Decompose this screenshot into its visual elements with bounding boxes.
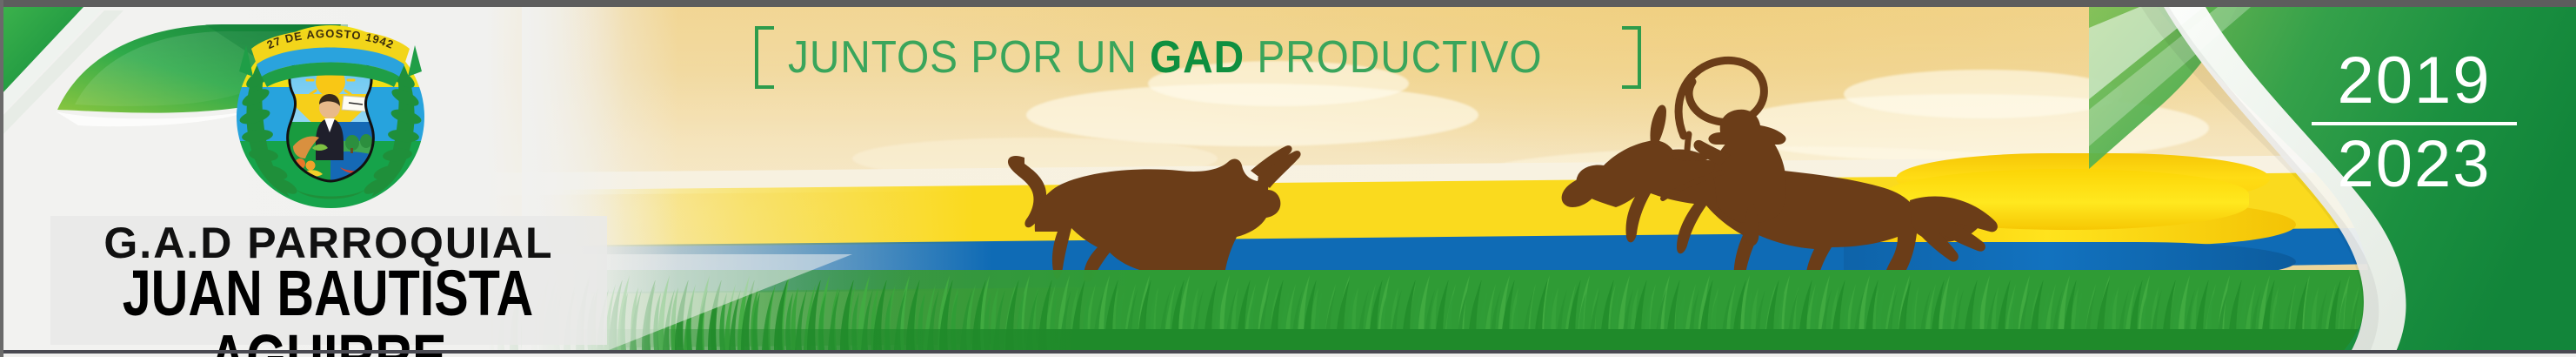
tagline-block: JUNTOS POR UN GAD PRODUCTIVO	[755, 21, 1641, 94]
tagline-highlight: GAD	[1150, 32, 1245, 83]
tagline-prefix: JUNTOS POR UN	[788, 32, 1150, 83]
bracket-right-icon	[1622, 26, 1641, 89]
tagline-text: JUNTOS POR UN GAD PRODUCTIVO	[788, 31, 1542, 84]
coat-of-arms-crest-icon: 27 DE AGOSTO 1942	[213, 10, 448, 211]
window-top-edge	[0, 0, 2576, 7]
institutional-banner: 27 DE AGOSTO 1942 G.A.D PARROQUIAL JUAN …	[0, 0, 2576, 357]
organization-name-line2: JUAN BAUTISTA AGUIRRE	[102, 261, 554, 357]
tagline-suffix: PRODUCTIVO	[1245, 32, 1542, 83]
bracket-left-icon	[755, 26, 774, 89]
term-divider-rule	[2312, 122, 2517, 125]
term-start-year: 2019	[2301, 49, 2527, 113]
term-end-year: 2023	[2301, 132, 2527, 197]
term-period-block: 2019 2023	[2301, 49, 2527, 198]
window-left-edge	[0, 0, 3, 357]
window-bottom-edge	[0, 350, 2576, 354]
